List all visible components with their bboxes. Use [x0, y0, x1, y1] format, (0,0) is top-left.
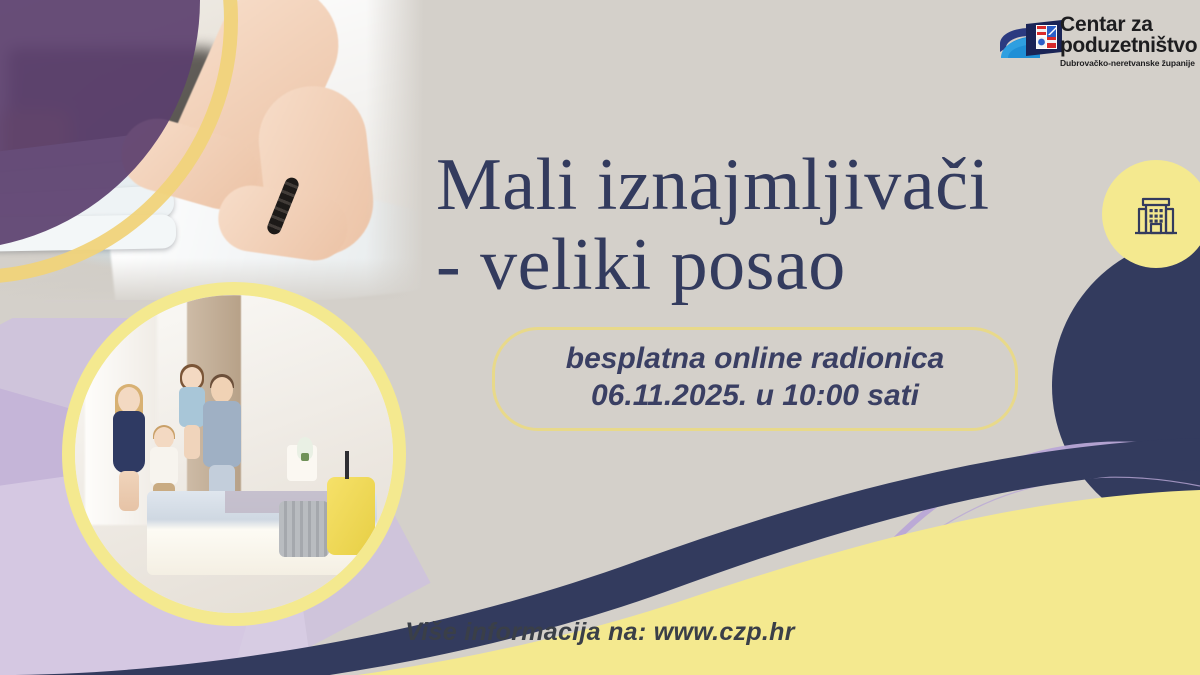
title-line-1: Mali iznajmljivači — [436, 144, 990, 226]
logo-line-2: poduzetništvo — [1060, 35, 1198, 57]
organization-logo: Centar za poduzetništvo Dubrovačko-neret… — [996, 8, 1196, 80]
title-line-2: - veliki posao — [436, 226, 1076, 306]
event-line-2: 06.11.2025. u 10:00 sati — [511, 378, 999, 415]
logo-line-3: Dubrovačko-neretvanske županije — [1060, 58, 1198, 68]
logo-line-1: Centar za — [1060, 14, 1198, 35]
page-title: Mali iznajmljivači - veliki posao — [436, 146, 1076, 306]
event-info-pill: besplatna online radionica 06.11.2025. u… — [492, 327, 1018, 431]
footer-info: Više informacija na: www.czp.hr — [0, 618, 1200, 647]
event-line-1: besplatna online radionica — [566, 342, 944, 375]
promo-poster: Mali iznajmljivači - veliki posao bespla… — [0, 0, 1200, 675]
